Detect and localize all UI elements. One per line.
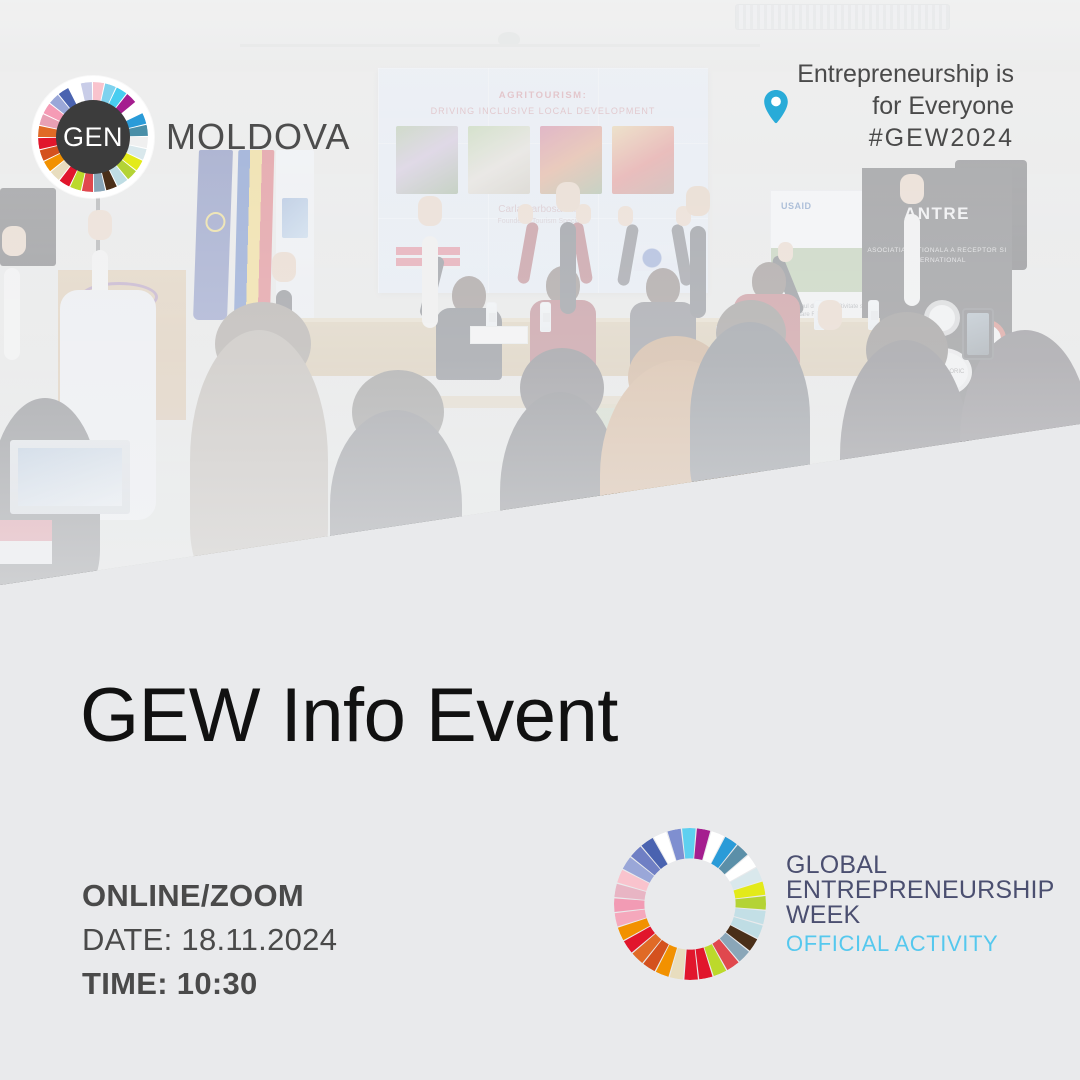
gew-official-activity-logo: GLOBAL ENTREPRENEURSHIP WEEK OFFICIAL AC…	[614, 828, 1055, 980]
gew-wheel-hole	[648, 862, 732, 946]
tagline-hashtag: #GEW2024	[797, 122, 1014, 154]
event-title: GEW Info Event	[80, 672, 618, 759]
event-location: ONLINE/ZOOM	[82, 878, 337, 914]
location-pin-icon	[763, 90, 789, 124]
gew-wordmark: GLOBAL ENTREPRENEURSHIP WEEK OFFICIAL AC…	[786, 853, 1055, 956]
gew-line-week: WEEK	[786, 903, 1055, 928]
event-time: TIME: 10:30	[82, 966, 337, 1002]
gew-color-wheel-icon	[614, 828, 766, 980]
gen-moldova-logo: GEN MOLDOVA	[32, 76, 350, 198]
tagline-line-2: for Everyone	[872, 92, 1014, 120]
gen-org-name: MOLDOVA	[166, 116, 350, 158]
poster-canvas: AGRITOURISM: DRIVING INCLUSIVE LOCAL DEV…	[0, 0, 1080, 1080]
tagline-line-2-row: for Everyone	[797, 90, 1014, 122]
gew-line-entrepreneurship: ENTREPRENEURSHIP	[786, 878, 1055, 903]
gen-color-wheel-icon: GEN	[32, 76, 154, 198]
tagline-line-1: Entrepreneurship is	[797, 58, 1014, 90]
gew-line-global: GLOBAL	[786, 853, 1055, 878]
tagline-block: Entrepreneurship is for Everyone #GEW202…	[797, 58, 1014, 154]
gen-logo-text: GEN	[56, 100, 130, 174]
event-date: DATE: 18.11.2024	[82, 922, 337, 958]
event-details: ONLINE/ZOOM DATE: 18.11.2024 TIME: 10:30	[82, 878, 337, 1002]
gew-line-official-activity: OFFICIAL ACTIVITY	[786, 931, 1055, 956]
